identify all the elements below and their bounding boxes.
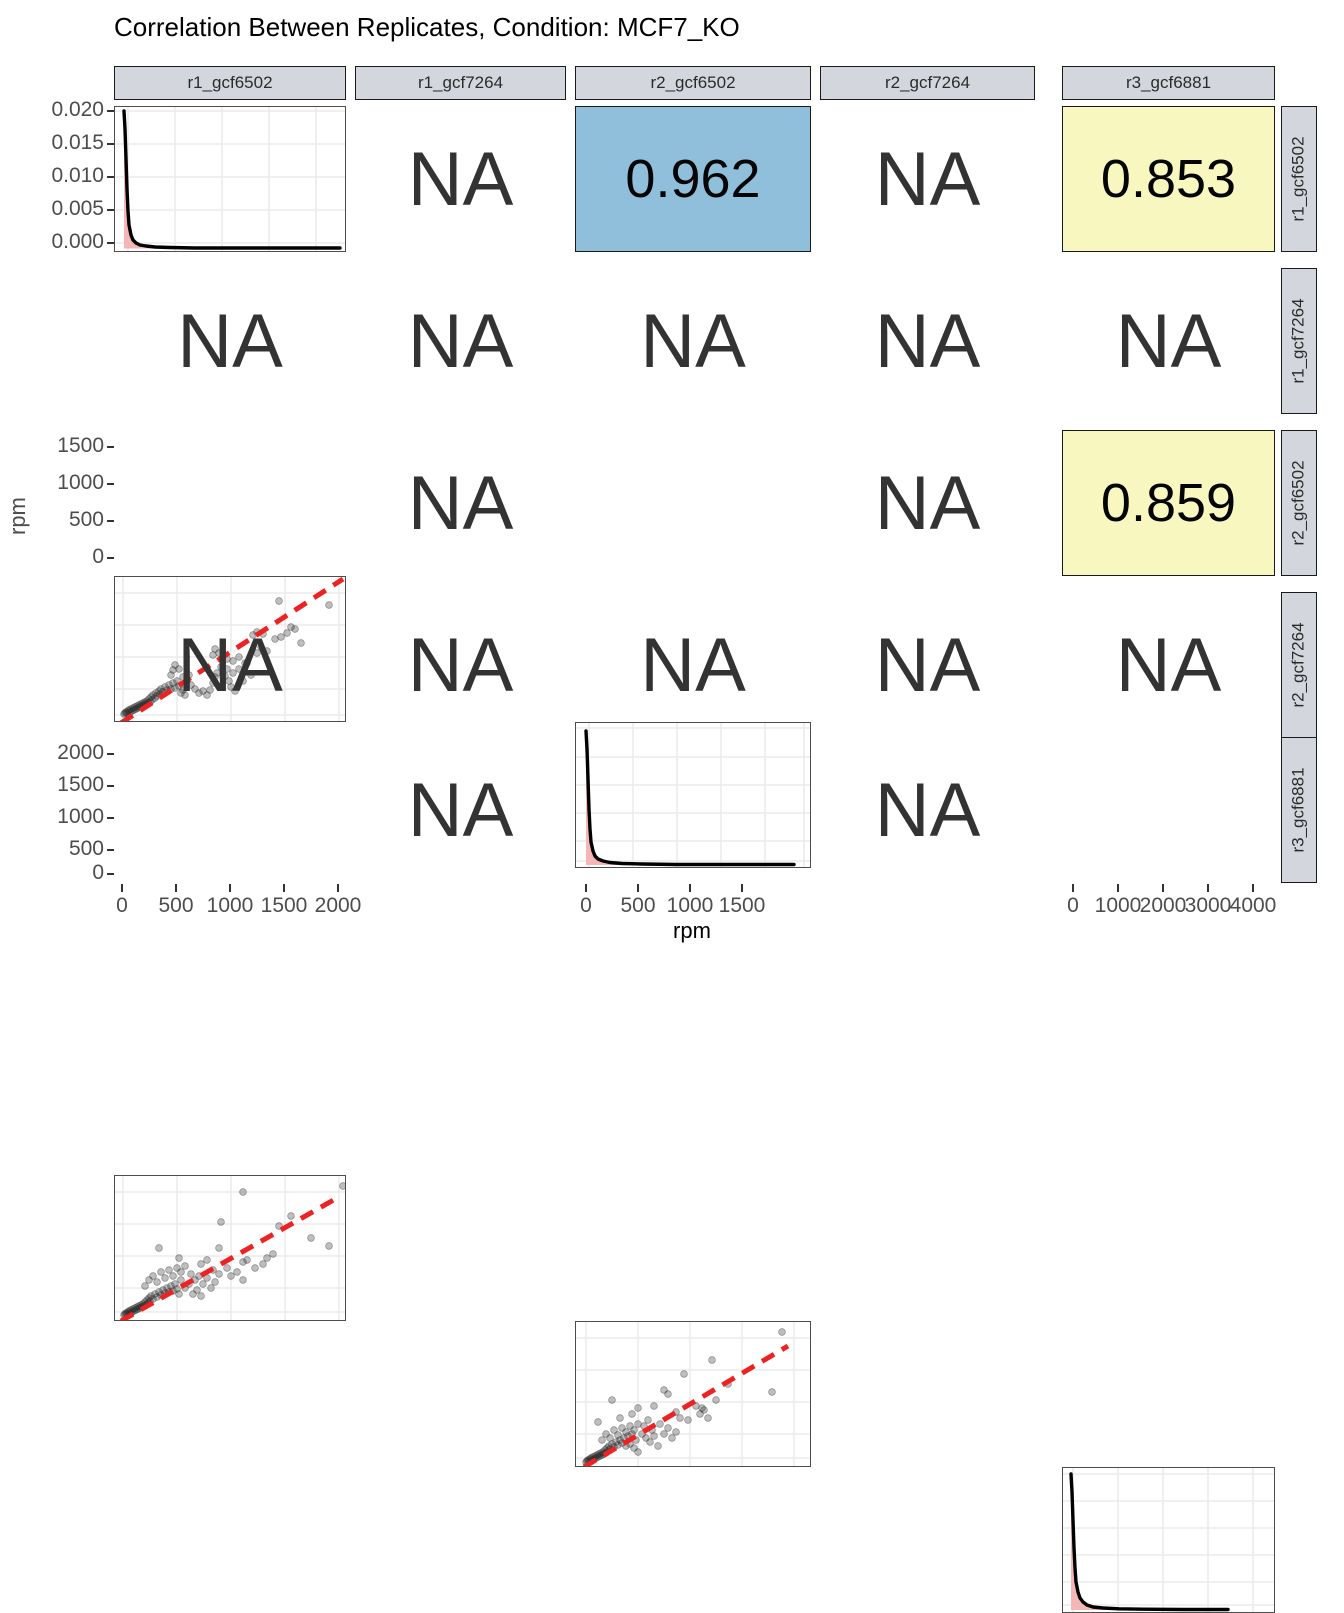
scatter-panel-r3_gcf6881-vs-r1_gcf6502 <box>114 1175 346 1321</box>
corr-cell-na: NA <box>575 592 811 738</box>
y-tick-label: 0.005 <box>20 197 104 221</box>
corr-cell-na: NA <box>114 268 346 414</box>
x-tick-mark <box>689 884 691 892</box>
y-tick-label: 0.020 <box>20 98 104 122</box>
x-tick-label: 0 <box>91 894 153 918</box>
corr-cell-na: NA <box>820 592 1035 738</box>
column-strip-2: r1_gcf7264 <box>355 66 566 100</box>
x-tick-mark <box>1117 884 1119 892</box>
density-plot-svg <box>1063 1468 1275 1613</box>
y-tick-label: 1500 <box>20 434 104 458</box>
corr-cell-na: NA <box>820 737 1035 883</box>
row-strip-label: r1_gcf6502 <box>1289 136 1309 221</box>
y-tick-label: 500 <box>20 508 104 532</box>
x-tick-label: 1000 <box>199 894 261 918</box>
x-tick-label: 2000 <box>307 894 369 918</box>
column-strip-4: r2_gcf7264 <box>820 66 1035 100</box>
density-plot-svg <box>115 107 346 252</box>
pairs-plot-figure: Correlation Between Replicates, Conditio… <box>0 0 1344 960</box>
scatter-plot-svg <box>115 1176 346 1321</box>
x-tick-mark <box>121 884 123 892</box>
column-strip-label: r2_gcf6502 <box>650 73 735 93</box>
x-tick-mark <box>1072 884 1074 892</box>
corr-cell-na: NA <box>820 106 1035 252</box>
x-tick-mark <box>337 884 339 892</box>
y-tick-mark <box>107 446 114 448</box>
y-tick-label: 2000 <box>20 741 104 765</box>
column-strip-label: r2_gcf7264 <box>885 73 970 93</box>
corr-cell-na: NA <box>355 737 566 883</box>
y-tick-label: 1000 <box>20 805 104 829</box>
corr-cell-na: NA <box>1062 268 1275 414</box>
y-tick-mark <box>107 209 114 211</box>
row-strip-label: r2_gcf7264 <box>1289 622 1309 707</box>
scatter-plot-svg <box>576 1322 811 1467</box>
column-strip-3: r2_gcf6502 <box>575 66 811 100</box>
column-strip-5: r3_gcf6881 <box>1062 66 1275 100</box>
x-tick-mark <box>283 884 285 892</box>
y-tick-mark <box>107 242 114 244</box>
x-tick-mark <box>1252 884 1254 892</box>
diagonal-density-panel-r3_gcf6881 <box>1062 1467 1275 1613</box>
y-tick-mark <box>107 849 114 851</box>
x-tick-mark <box>1207 884 1209 892</box>
density-plot-svg <box>576 723 811 868</box>
x-tick-mark <box>229 884 231 892</box>
x-tick-mark <box>741 884 743 892</box>
x-axis-title: rpm <box>632 918 752 944</box>
y-tick-mark <box>107 817 114 819</box>
x-tick-mark <box>637 884 639 892</box>
scatter-panel-r3_gcf6881-vs-r2_gcf6502 <box>575 1321 811 1467</box>
corr-cell-value: 0.859 <box>1062 430 1275 576</box>
x-tick-label: 1500 <box>253 894 315 918</box>
page-title: Correlation Between Replicates, Conditio… <box>114 12 740 43</box>
y-tick-mark <box>107 785 114 787</box>
row-strip-label: r3_gcf6881 <box>1289 767 1309 852</box>
y-tick-label: 0.000 <box>20 230 104 254</box>
x-tick-label: 4000 <box>1222 894 1284 918</box>
y-tick-mark <box>107 520 114 522</box>
y-tick-label: 1500 <box>20 773 104 797</box>
row-strip-4: r2_gcf7264 <box>1281 592 1317 738</box>
y-tick-label: 0 <box>20 545 104 569</box>
x-tick-mark <box>585 884 587 892</box>
corr-cell-na: NA <box>575 268 811 414</box>
y-tick-mark <box>107 873 114 875</box>
corr-cell-na: NA <box>355 592 566 738</box>
corr-cell-value: 0.962 <box>575 106 811 252</box>
y-tick-mark <box>107 110 114 112</box>
x-tick-label: 1500 <box>711 894 773 918</box>
corr-cell-na: NA <box>114 592 346 738</box>
y-tick-mark <box>107 176 114 178</box>
row-strip-3: r2_gcf6502 <box>1281 430 1317 576</box>
row-strip-5: r3_gcf6881 <box>1281 737 1317 883</box>
row-strip-label: r1_gcf7264 <box>1289 298 1309 383</box>
column-strip-1: r1_gcf6502 <box>114 66 346 100</box>
y-tick-label: 0.010 <box>20 164 104 188</box>
row-strip-2: r1_gcf7264 <box>1281 268 1317 414</box>
y-tick-label: 0.015 <box>20 131 104 155</box>
corr-cell-na: NA <box>355 430 566 576</box>
corr-cell-na: NA <box>820 268 1035 414</box>
corr-cell-value: 0.853 <box>1062 106 1275 252</box>
y-tick-mark <box>107 143 114 145</box>
diagonal-density-panel-r2_gcf6502 <box>575 722 811 868</box>
corr-cell-na: NA <box>355 268 566 414</box>
column-strip-label: r3_gcf6881 <box>1126 73 1211 93</box>
diagonal-density-panel-r1_gcf6502 <box>114 106 346 252</box>
y-tick-label: 0 <box>20 861 104 885</box>
y-tick-mark <box>107 483 114 485</box>
y-tick-label: 1000 <box>20 471 104 495</box>
x-tick-mark <box>1162 884 1164 892</box>
row-strip-label: r2_gcf6502 <box>1289 460 1309 545</box>
column-strip-label: r1_gcf7264 <box>418 73 503 93</box>
corr-cell-na: NA <box>820 430 1035 576</box>
corr-cell-na: NA <box>1062 592 1275 738</box>
row-strip-1: r1_gcf6502 <box>1281 106 1317 252</box>
y-tick-mark <box>107 753 114 755</box>
column-strip-label: r1_gcf6502 <box>187 73 272 93</box>
y-tick-mark <box>107 557 114 559</box>
x-tick-label: 500 <box>145 894 207 918</box>
x-tick-mark <box>175 884 177 892</box>
corr-cell-na: NA <box>355 106 566 252</box>
y-tick-label: 500 <box>20 837 104 861</box>
